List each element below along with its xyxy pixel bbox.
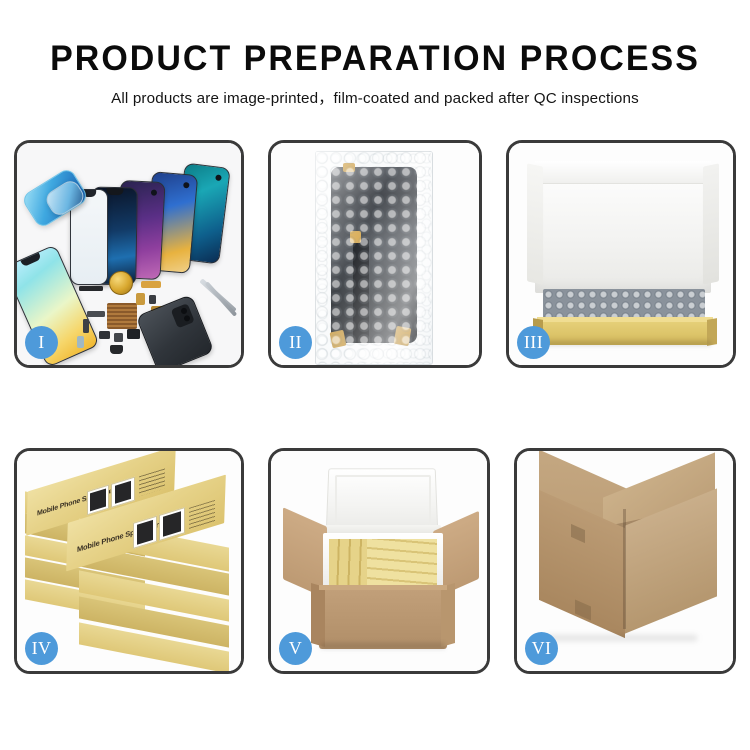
panel-step-6[interactable]: VI: [514, 448, 736, 674]
panel-step-3[interactable]: III: [506, 140, 736, 368]
panel-step-4-badge: IV: [25, 632, 58, 665]
panel-step-1[interactable]: I: [14, 140, 244, 368]
panel-step-4[interactable]: Mobile Phone Spare Parts Mobile Phone Sp…: [14, 448, 244, 674]
panel-step-2[interactable]: II: [268, 140, 482, 368]
panel-step-5[interactable]: V: [268, 448, 490, 674]
panel-step-5-badge: V: [279, 632, 312, 665]
process-grid: I II: [0, 0, 750, 750]
panel-step-2-badge: II: [279, 326, 312, 359]
panel-step-3-badge: III: [517, 326, 550, 359]
panel-step-1-badge: I: [25, 326, 58, 359]
panel-step-6-badge: VI: [525, 632, 558, 665]
